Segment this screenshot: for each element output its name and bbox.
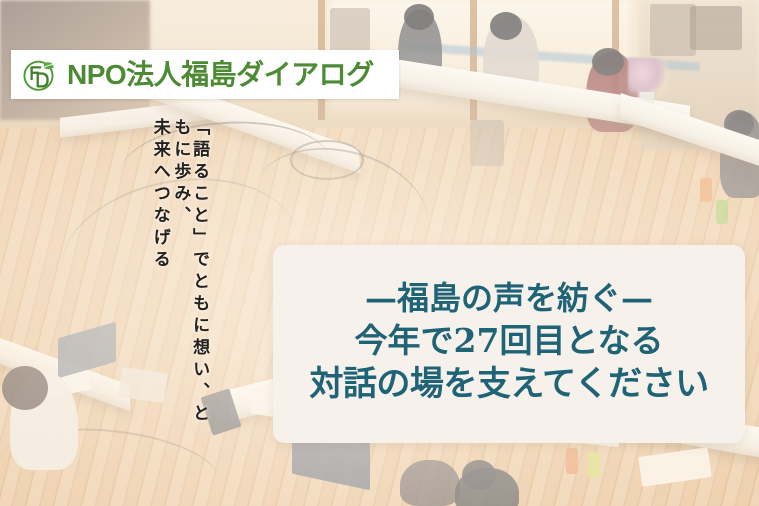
message-line-3: 対話の場を支えてください [309,362,708,407]
message-card: —福島の声を紡ぐ— 今年で27回目となる 対話の場を支えてください [273,245,745,443]
fd-monogram-leaf-icon [21,56,59,94]
banner-stage: NPO法人福島ダイアログ 未来へつなげる 「語ること」でともに想い、ともに歩み、… [0,0,759,506]
tagline-column-left: 未来へつなげる [150,118,169,438]
message-line-2: 今年で27回目となる [355,319,664,363]
vertical-tagline: 未来へつなげる 「語ること」でともに想い、ともに歩み、 [150,118,208,438]
message-line-1: —福島の声を紡ぐ— [365,277,653,319]
organization-name: NPO法人福島ダイアログ [67,61,374,89]
tagline-column-right: 「語ること」でともに想い、ともに歩み、 [171,118,208,438]
logo-bar: NPO法人福島ダイアログ [11,50,399,99]
